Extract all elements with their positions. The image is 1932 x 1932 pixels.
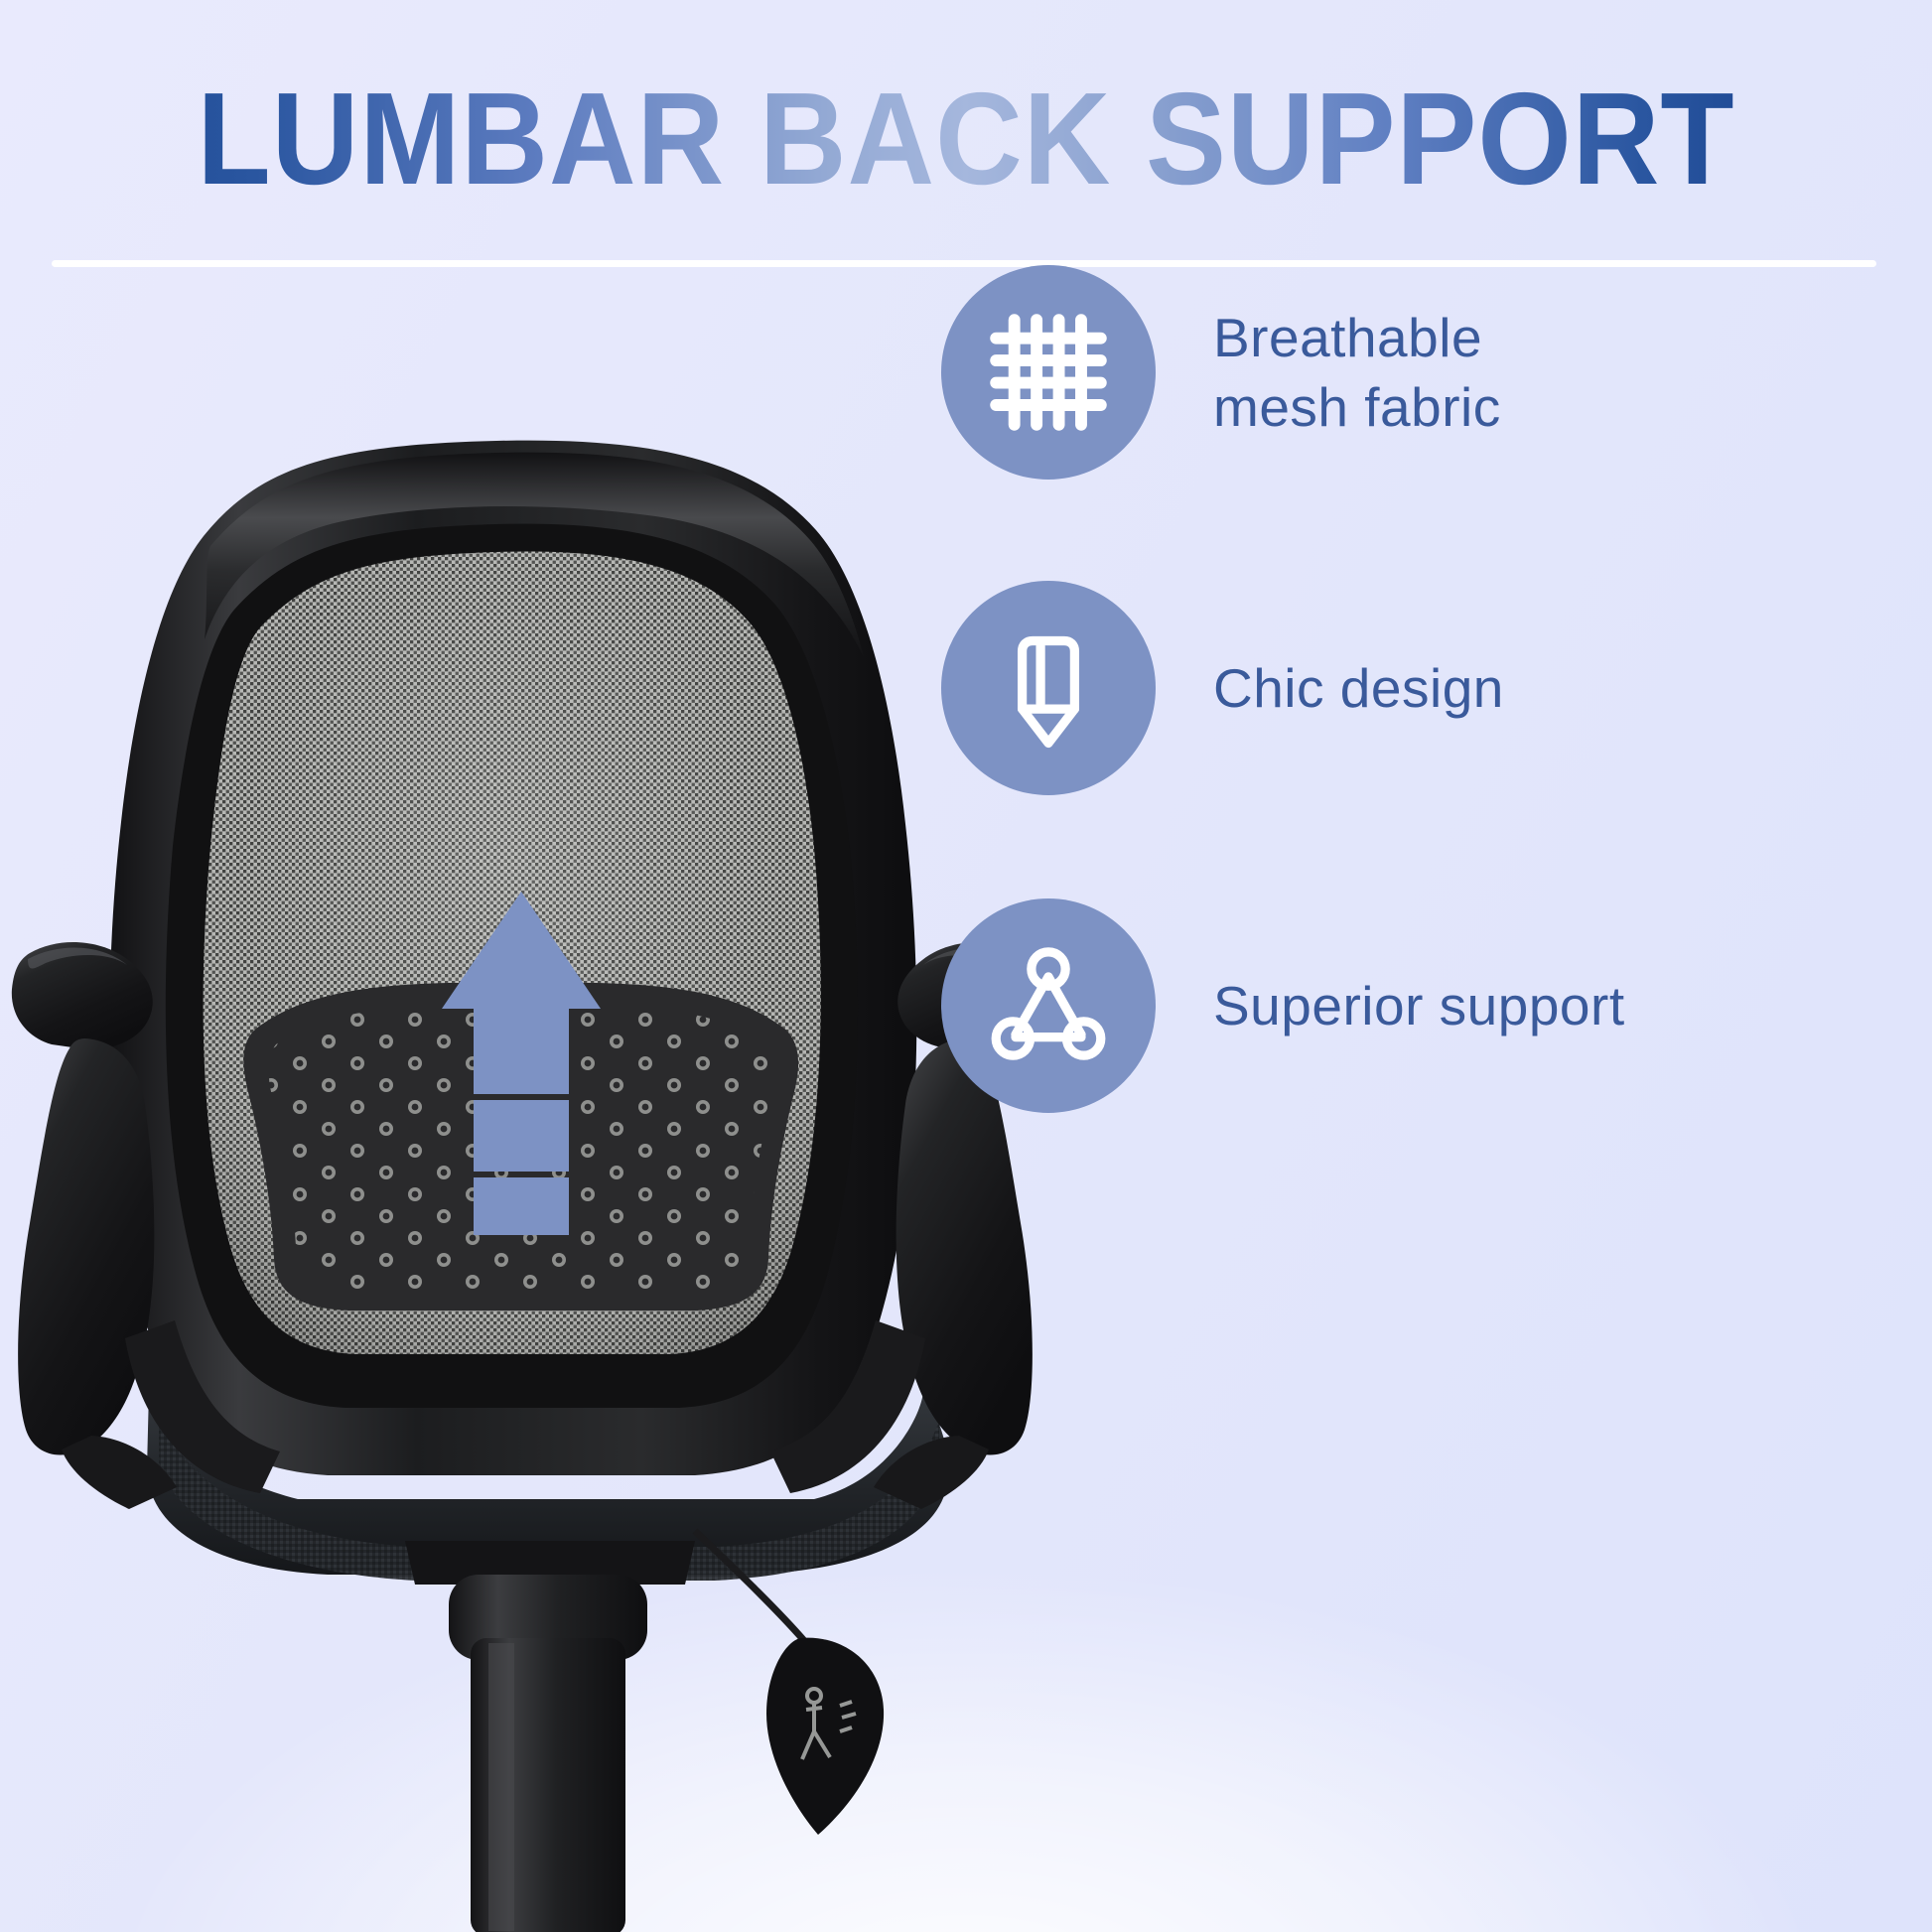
feature-label: Superior support [1213, 971, 1625, 1040]
infographic-canvas: LUMBAR BACK SUPPORT [0, 0, 1932, 1932]
feature-label: Chic design [1213, 653, 1504, 723]
header: LUMBAR BACK SUPPORT [0, 0, 1932, 268]
gas-cylinder [405, 1541, 695, 1932]
page-title: LUMBAR BACK SUPPORT [77, 73, 1855, 205]
triangle-network-icon [983, 940, 1114, 1071]
feature-icon-badge [941, 265, 1156, 480]
pencil-icon [983, 622, 1114, 754]
feature-icon-badge [941, 898, 1156, 1113]
feature-label: Breathable mesh fabric [1213, 303, 1501, 442]
mesh-grid-icon [983, 307, 1114, 438]
feature-list: Breathable mesh fabric Chic design [941, 243, 1932, 1315]
feature-item-superior-support[interactable]: Superior support [941, 898, 1625, 1113]
feature-item-chic-design[interactable]: Chic design [941, 581, 1504, 795]
feature-icon-badge [941, 581, 1156, 795]
feature-item-breathable-mesh[interactable]: Breathable mesh fabric [941, 265, 1501, 480]
